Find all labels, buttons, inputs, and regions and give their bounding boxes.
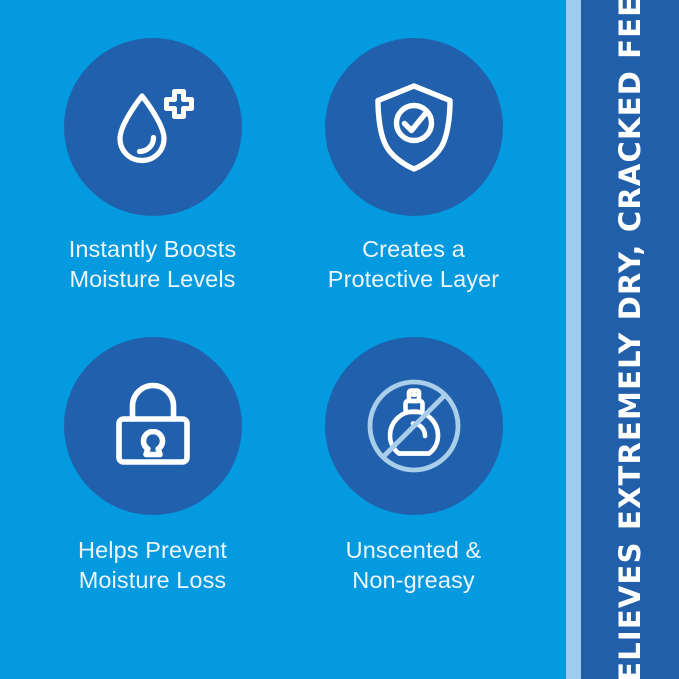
benefit-item-protective-layer: Creates a Protective Layer	[283, 38, 544, 337]
water-drop-plus-icon	[101, 75, 205, 179]
no-perfume-icon	[362, 374, 466, 478]
benefit-label: Instantly Boosts Moisture Levels	[69, 234, 237, 294]
benefit-item-moisture-loss: Helps Prevent Moisture Loss	[22, 337, 283, 636]
benefit-icon-circle	[64, 38, 242, 216]
shield-check-icon	[362, 75, 466, 179]
benefit-icon-circle	[325, 337, 503, 515]
benefit-label: Creates a Protective Layer	[328, 234, 499, 294]
accent-strip	[566, 0, 581, 679]
benefit-label: Unscented & Non-greasy	[346, 535, 482, 595]
benefit-item-moisture-boost: Instantly Boosts Moisture Levels	[22, 38, 283, 337]
side-banner-text: RELIEVES EXTREMELY DRY, CRACKED FEET	[613, 0, 647, 679]
benefits-grid: Instantly Boosts Moisture Levels Creates…	[0, 0, 566, 679]
benefit-icon-circle	[325, 38, 503, 216]
benefits-poster: Instantly Boosts Moisture Levels Creates…	[0, 0, 679, 679]
padlock-icon	[101, 374, 205, 478]
benefit-icon-circle	[64, 337, 242, 515]
side-banner: RELIEVES EXTREMELY DRY, CRACKED FEET	[581, 0, 679, 679]
benefit-label: Helps Prevent Moisture Loss	[78, 535, 227, 595]
benefit-item-unscented: Unscented & Non-greasy	[283, 337, 544, 636]
